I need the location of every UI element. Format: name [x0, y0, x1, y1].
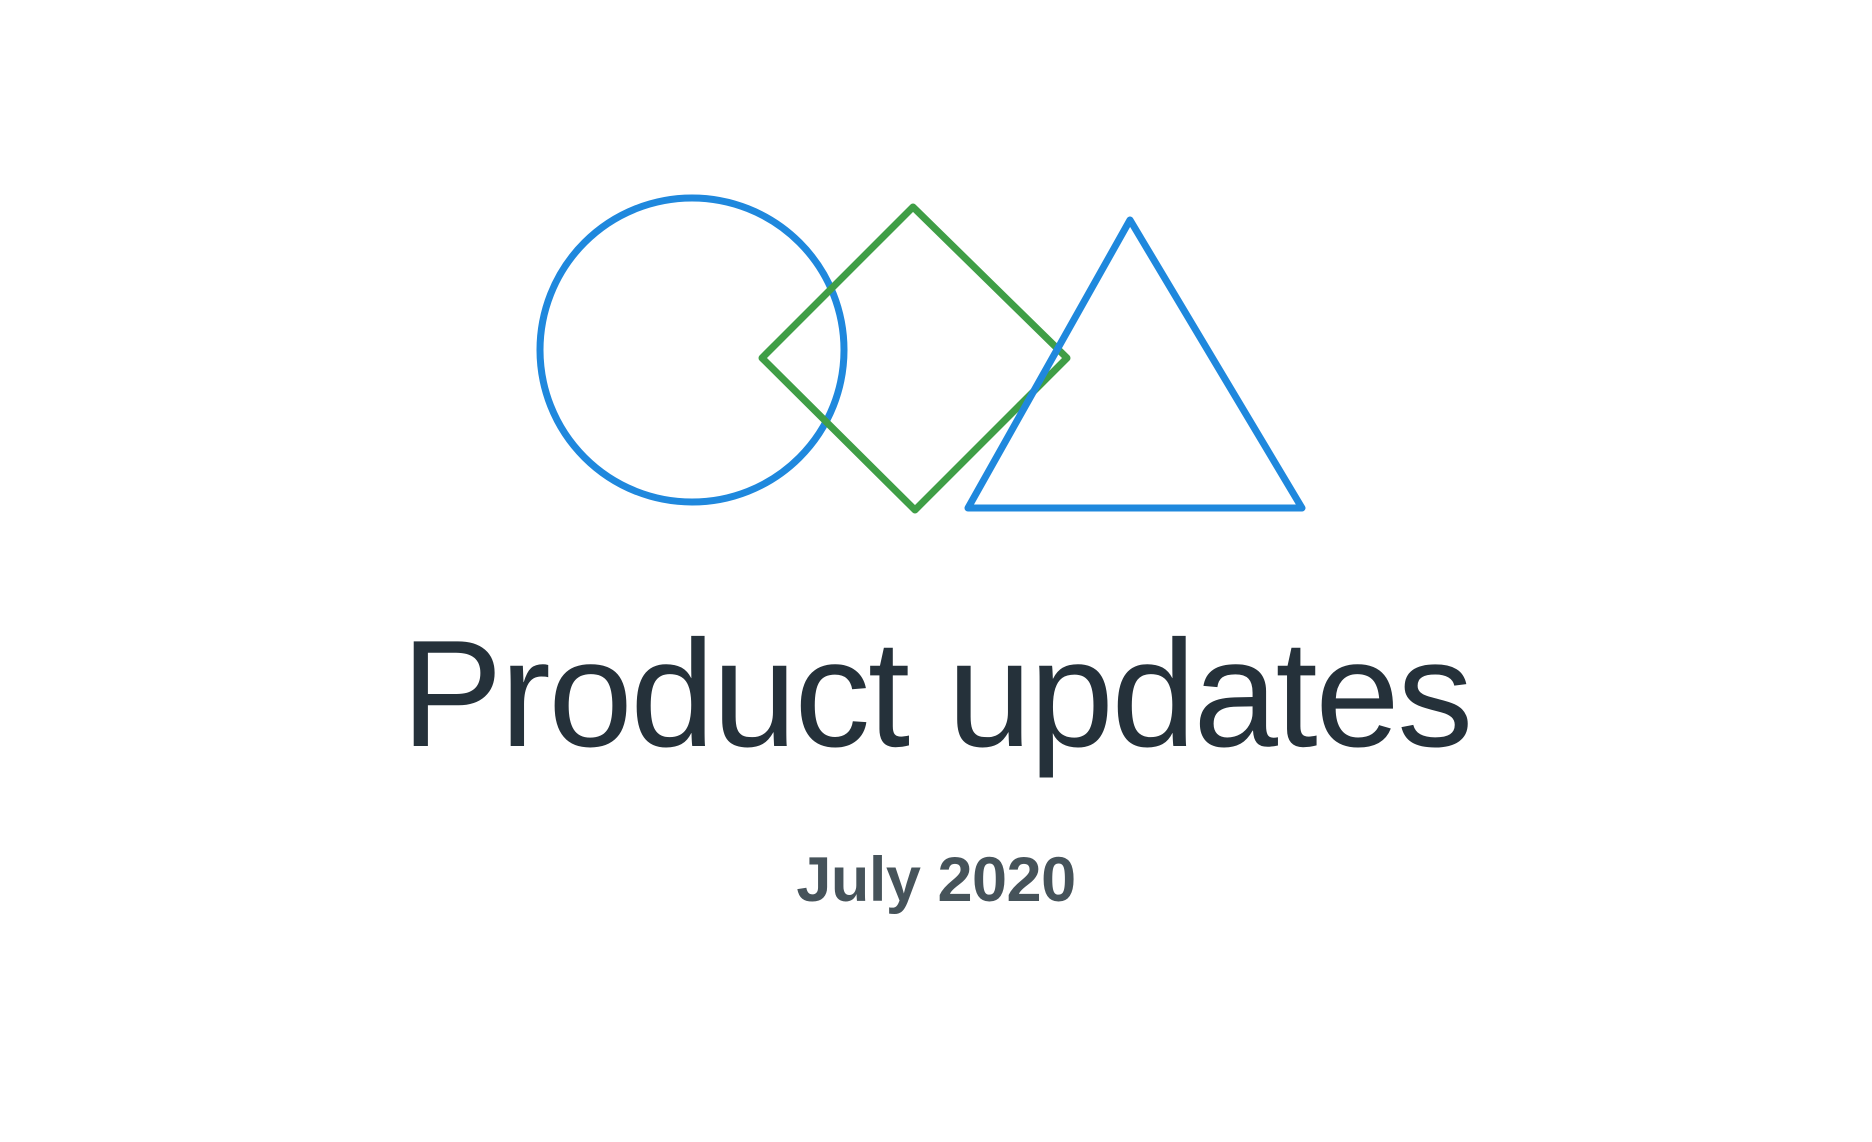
circle-shape-icon	[540, 198, 844, 502]
page-title: Product updates	[0, 612, 1872, 776]
diamond-shape-icon	[762, 207, 1067, 510]
page-subtitle-date: July 2020	[0, 846, 1872, 915]
logo-shapes-mark	[0, 0, 1872, 600]
title-slide: Product updates July 2020	[0, 0, 1872, 1142]
title-block: Product updates	[0, 612, 1872, 776]
subtitle-block: July 2020	[0, 846, 1872, 915]
triangle-shape-icon	[968, 220, 1302, 508]
